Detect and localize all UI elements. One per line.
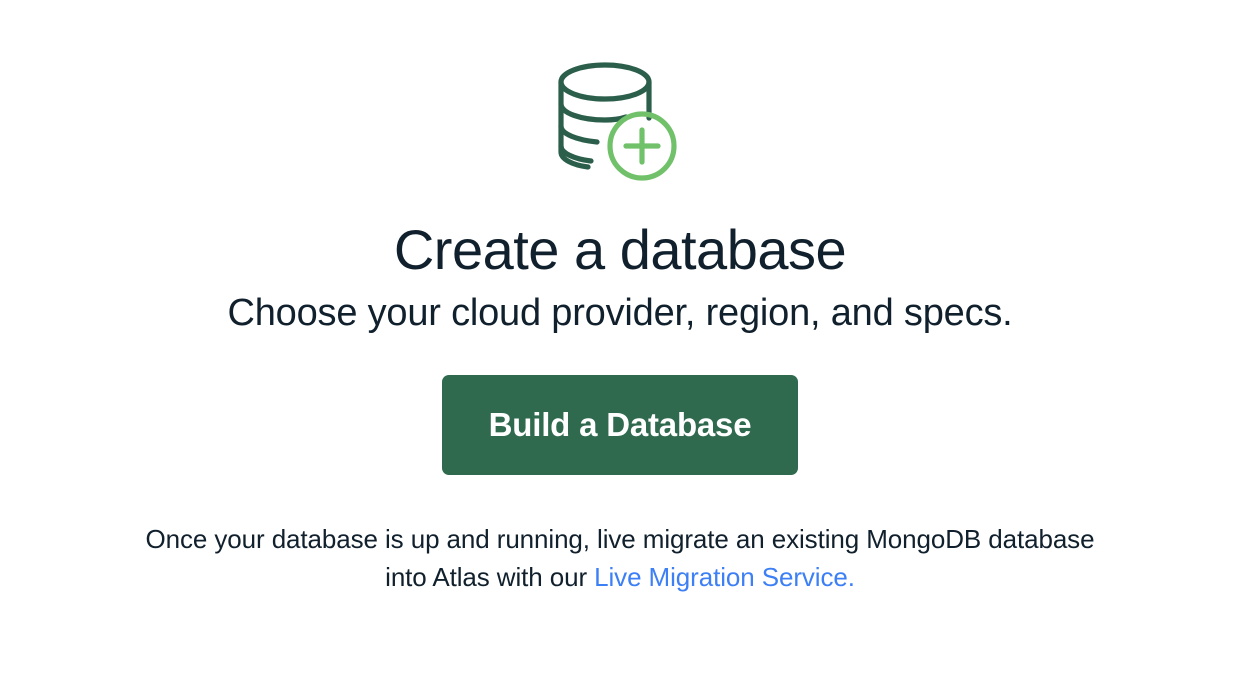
footnote-line-2-prefix: into Atlas with our: [385, 562, 594, 592]
live-migration-service-link[interactable]: Live Migration Service.: [594, 562, 855, 592]
build-a-database-button[interactable]: Build a Database: [442, 375, 798, 475]
live-migration-footnote: Once your database is up and running, li…: [146, 521, 1095, 596]
create-database-empty-state: Create a database Choose your cloud prov…: [0, 0, 1240, 676]
database-add-icon: [550, 58, 690, 186]
page-title: Create a database: [394, 220, 846, 279]
page-subtitle: Choose your cloud provider, region, and …: [227, 293, 1012, 335]
footnote-line-1: Once your database is up and running, li…: [146, 524, 1095, 554]
